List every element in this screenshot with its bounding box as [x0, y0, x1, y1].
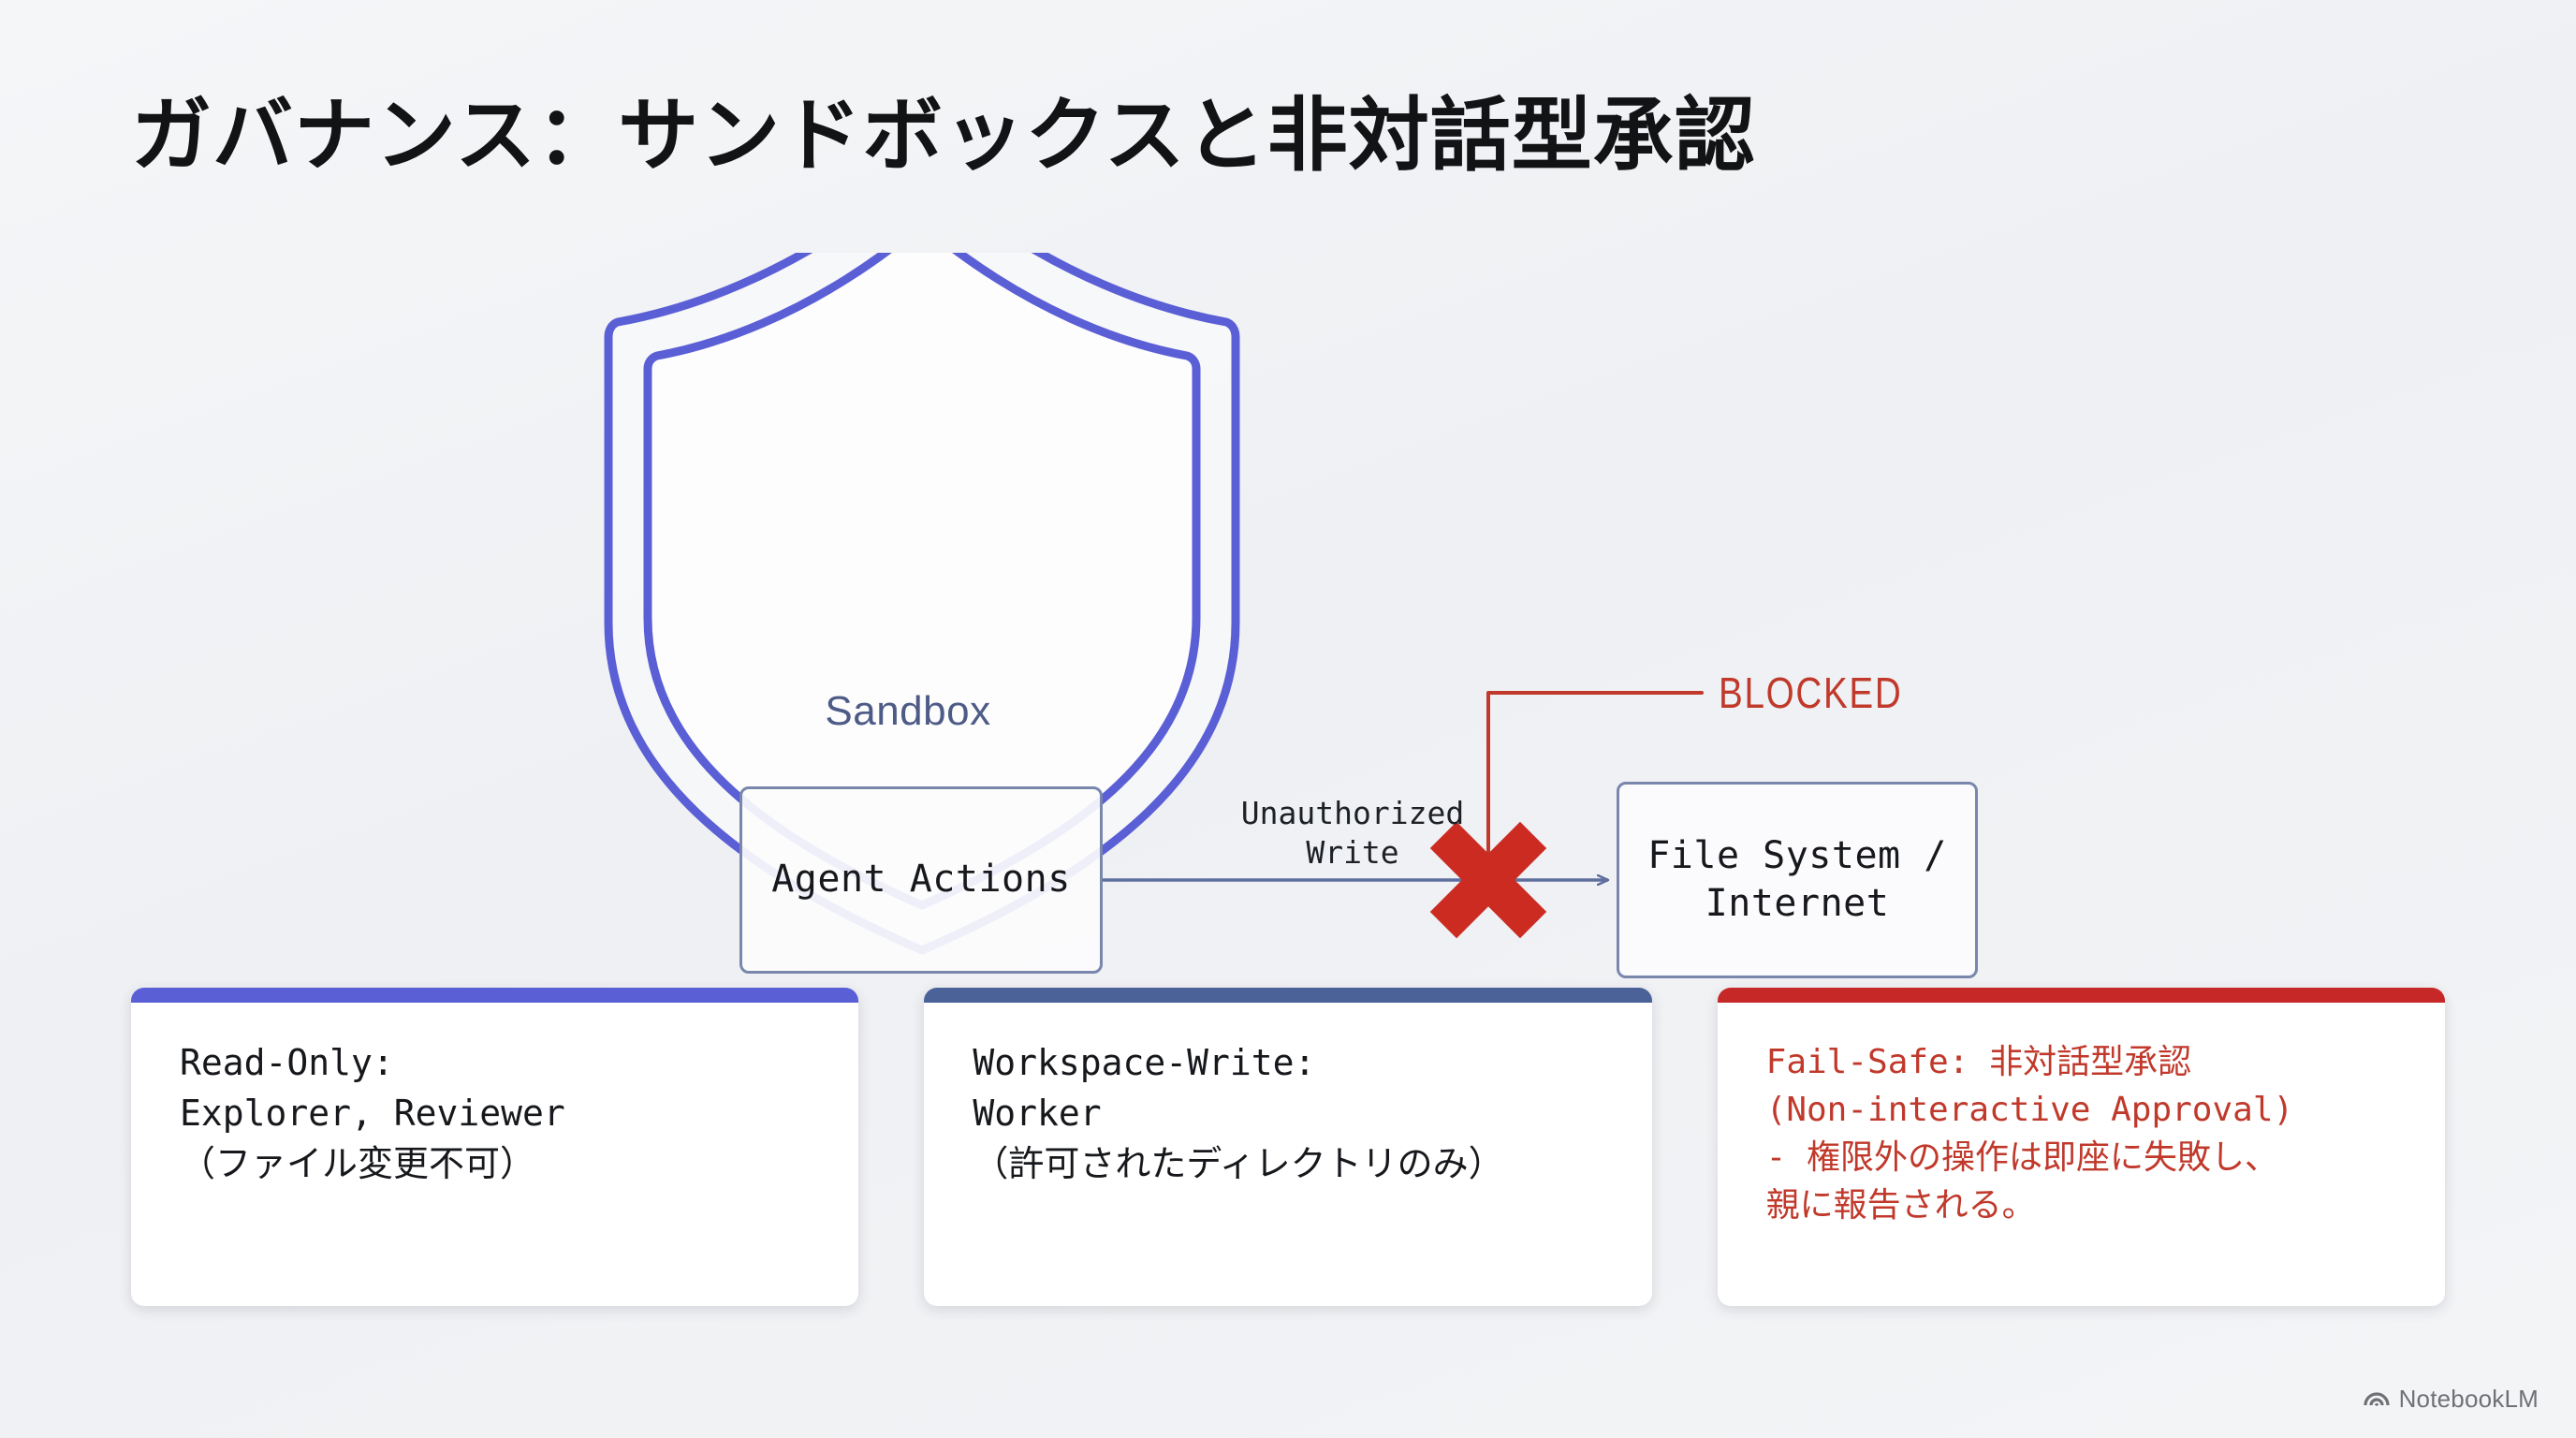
notebooklm-logo-icon [2364, 1387, 2390, 1412]
node-agent-actions[interactable]: Agent Actions [739, 786, 1103, 974]
sandbox-label: Sandbox [739, 688, 1076, 735]
watermark-label: NotebookLM [2399, 1385, 2539, 1414]
card-workspace-write[interactable]: Workspace-Write: Worker （許可されたディレクトリのみ） [924, 988, 1651, 1306]
governance-diagram: Sandbox Agent Actions File System / Inte… [0, 253, 2576, 964]
card-accent-bar [131, 988, 858, 1003]
node-file-system-internet[interactable]: File System / Internet [1617, 782, 1978, 978]
card-text: Read-Only: Explorer, Reviewer （ファイル変更不可） [131, 1003, 858, 1190]
notebooklm-watermark: NotebookLM [2364, 1385, 2539, 1414]
blocked-annotation-label: BLOCKED [1719, 668, 1902, 718]
card-accent-bar [1718, 988, 2445, 1003]
card-read-only[interactable]: Read-Only: Explorer, Reviewer （ファイル変更不可） [131, 988, 858, 1306]
permission-cards: Read-Only: Explorer, Reviewer （ファイル変更不可）… [131, 988, 2445, 1306]
page-title: ガバナンス：サンドボックスと非対話型承認 [131, 90, 1756, 183]
card-text: Fail-Safe: 非対話型承認 (Non-interactive Appro… [1718, 1003, 2445, 1229]
card-accent-bar [924, 988, 1651, 1003]
card-fail-safe[interactable]: Fail-Safe: 非対話型承認 (Non-interactive Appro… [1718, 988, 2445, 1306]
edge-label-unauthorized-write: Unauthorized Write [1226, 794, 1479, 873]
card-text: Workspace-Write: Worker （許可されたディレクトリのみ） [924, 1003, 1651, 1190]
